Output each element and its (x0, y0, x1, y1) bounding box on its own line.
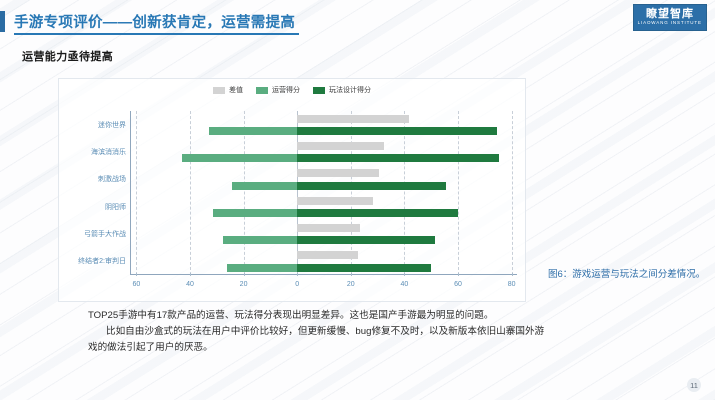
bar-diff (297, 115, 409, 123)
bar-diff (297, 251, 358, 259)
legend-swatch-0 (213, 87, 225, 94)
page-number: 11 (687, 378, 701, 392)
title-underline (14, 33, 299, 35)
chart-plot-area: 迷你世界海滨消消乐刺激战场阴阳师弓箭手大作战终结者2:审判日 (131, 111, 517, 275)
chart-row: 终结者2:审判日 (131, 248, 517, 275)
x-tick-mark (458, 273, 459, 276)
bar-ops (232, 182, 297, 190)
figure-caption: 图6：游戏运营与玩法之间分差情况。 (548, 268, 708, 282)
legend-label: 玩法设计得分 (329, 85, 371, 95)
body-paragraph-1: TOP25手游中有17款产品的运营、玩法得分表现出明显差异。这也是国产手游最为明… (88, 308, 548, 324)
body-paragraph-2: 比如自由沙盒式的玩法在用户中评价比较好，但更新缓慢、bug修复不及时，以及新版本… (88, 324, 548, 356)
x-tick-label: 40 (401, 281, 409, 288)
legend-swatch-2 (313, 87, 325, 94)
x-tick-mark (351, 273, 352, 276)
bar-diff (297, 142, 384, 150)
page-title: 手游专项评价——创新获肯定，运营需提高 (14, 11, 295, 32)
x-tick-label: 0 (295, 281, 299, 288)
legend-swatch-1 (256, 87, 268, 94)
legend-label: 运营得分 (272, 85, 300, 95)
y-axis-label: 阴阳师 (105, 202, 126, 212)
x-tick-mark (244, 273, 245, 276)
x-tick-mark (190, 273, 191, 276)
logo: 瞭望智库 LIAOWANG INSTITUTE (633, 4, 707, 31)
bar-design (297, 127, 497, 135)
y-axis-label: 弓箭手大作战 (84, 229, 126, 239)
x-axis-ticks: 604020020406080 (131, 277, 517, 291)
chart-row: 迷你世界 (131, 111, 517, 138)
x-tick-label: 20 (240, 281, 248, 288)
bar-design (297, 209, 458, 217)
bar-ops (209, 127, 297, 135)
x-tick-mark (512, 273, 513, 276)
x-tick-label: 20 (347, 281, 355, 288)
body-text: TOP25手游中有17款产品的运营、玩法得分表现出明显差异。这也是国产手游最为明… (88, 308, 548, 356)
bar-ops (182, 154, 297, 162)
chart-legend: 差值运营得分玩法设计得分 (59, 85, 525, 95)
bar-design (297, 264, 431, 272)
bar-ops (227, 264, 297, 272)
x-tick-label: 80 (508, 281, 516, 288)
chart-panel: 差值运营得分玩法设计得分 迷你世界海滨消消乐刺激战场阴阳师弓箭手大作战终结者2:… (58, 78, 526, 302)
y-axis-label: 刺激战场 (98, 174, 126, 184)
chart-row: 刺激战场 (131, 166, 517, 193)
x-tick-label: 60 (454, 281, 462, 288)
logo-chinese-text: 瞭望智库 (646, 9, 694, 20)
legend-item[interactable]: 差值 (213, 85, 243, 95)
slide-title-row: 手游专项评价——创新获肯定，运营需提高 (0, 10, 295, 32)
chart-row: 海滨消消乐 (131, 138, 517, 165)
bar-ops (213, 209, 297, 217)
legend-item[interactable]: 运营得分 (256, 85, 300, 95)
x-tick-label: 40 (186, 281, 194, 288)
bar-diff (297, 169, 379, 177)
bar-ops (223, 236, 297, 244)
bar-design (297, 154, 499, 162)
section-subtitle: 运营能力亟待提高 (22, 48, 113, 64)
x-tick-mark (297, 273, 298, 276)
legend-item[interactable]: 玩法设计得分 (313, 85, 371, 95)
logo-english-text: LIAOWANG INSTITUTE (638, 22, 702, 26)
bar-design (297, 236, 435, 244)
legend-label: 差值 (229, 85, 243, 95)
chart-row: 阴阳师 (131, 193, 517, 220)
x-tick-mark (404, 273, 405, 276)
y-axis-label: 终结者2:审判日 (78, 256, 126, 266)
y-axis-label: 海滨消消乐 (91, 147, 126, 157)
y-axis-label: 迷你世界 (98, 120, 126, 130)
x-tick-label: 60 (132, 281, 140, 288)
bar-design (297, 182, 446, 190)
chart-row: 弓箭手大作战 (131, 220, 517, 247)
slide-content: 手游专项评价——创新获肯定，运营需提高 瞭望智库 LIAOWANG INSTIT… (0, 0, 715, 400)
title-accent-bar (0, 11, 5, 32)
bar-diff (297, 224, 359, 232)
bar-diff (297, 197, 373, 205)
x-tick-mark (136, 273, 137, 276)
